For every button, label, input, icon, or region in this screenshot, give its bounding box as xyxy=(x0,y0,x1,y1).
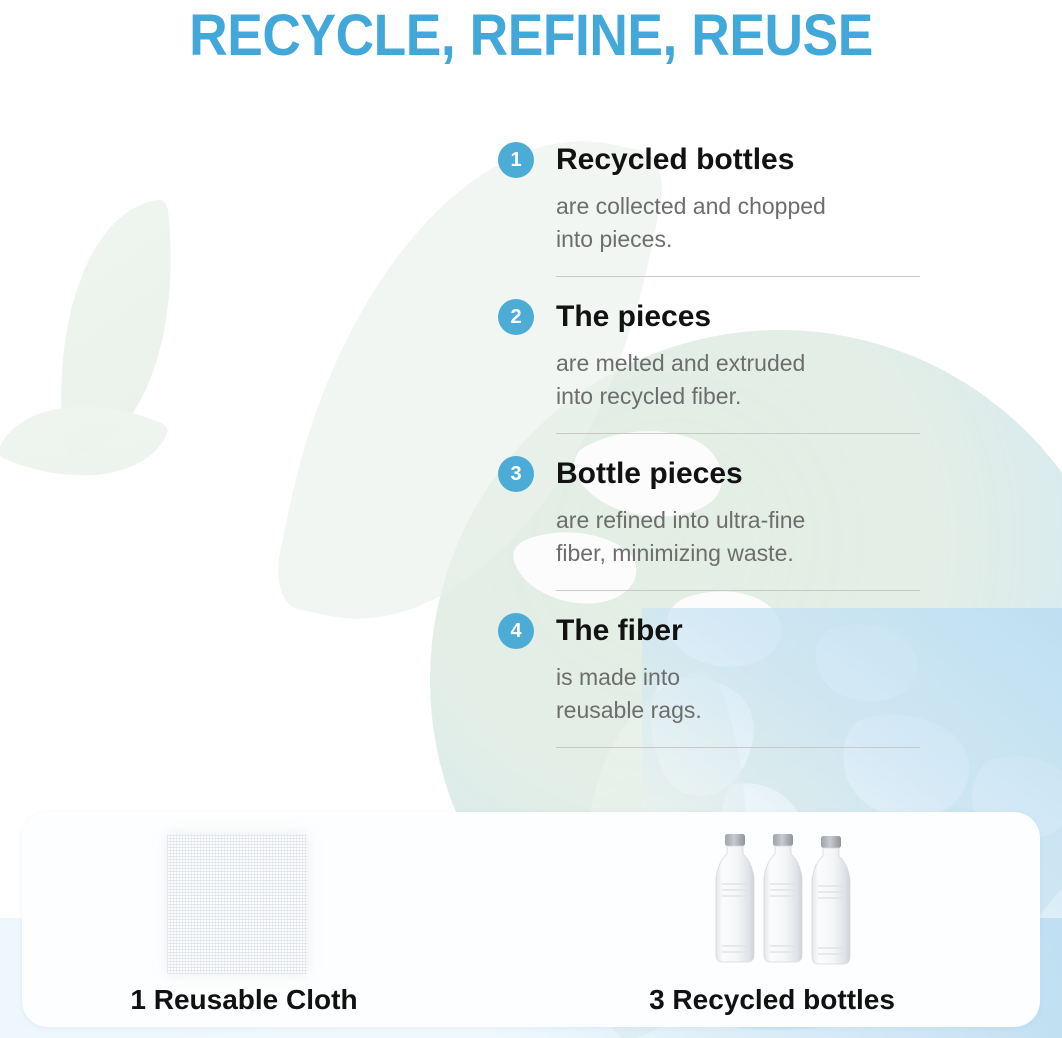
step-body-1: are collected and chopped into pieces. xyxy=(556,190,928,256)
infographic-canvas: RECYCLE, REFINE, REUSE xyxy=(0,0,1062,1038)
recycled-bottles-graphic xyxy=(710,830,870,975)
page-title: RECYCLE, REFINE, REUSE xyxy=(42,2,1019,69)
step-item: 3 Bottle pieces are refined into ultra-f… xyxy=(498,454,928,591)
leaf-graphic-secondary xyxy=(0,370,170,511)
step-badge-3: 3 xyxy=(498,456,534,492)
step-divider-2 xyxy=(556,433,920,434)
band-label-01: 01 xyxy=(284,236,326,279)
band-label-04: 04 xyxy=(284,696,326,739)
step-badge-4: 4 xyxy=(498,613,534,649)
steps-list: 1 Recycled bottles are collected and cho… xyxy=(498,140,928,748)
reusable-cloth-swatch xyxy=(167,834,307,974)
step-title-2: The pieces xyxy=(556,297,711,337)
comparison-card: 1 Reusable Cloth 3 Recycled bottles xyxy=(22,812,1040,1027)
step-divider-3 xyxy=(556,590,920,591)
step-body-4: is made into reusable rags. xyxy=(556,661,928,727)
step-title-3: Bottle pieces xyxy=(556,454,743,494)
comparison-right-label: 3 Recycled bottles xyxy=(622,984,922,1016)
band-label-03: 03 xyxy=(284,556,326,599)
band-label-02: 02 xyxy=(284,393,326,436)
bottle-stage-diagram: 01 02 03 04 xyxy=(120,98,390,798)
step-body-2: are melted and extruded into recycled fi… xyxy=(556,347,928,413)
step-body-3: are refined into ultra-fine fiber, minim… xyxy=(556,504,928,570)
step-badge-1: 1 xyxy=(498,142,534,178)
step-title-4: The fiber xyxy=(556,611,683,651)
comparison-left-label: 1 Reusable Cloth xyxy=(114,984,374,1016)
step-item: 1 Recycled bottles are collected and cho… xyxy=(498,140,928,277)
step-divider-1 xyxy=(556,276,920,277)
step-item: 2 The pieces are melted and extruded int… xyxy=(498,297,928,434)
step-badge-2: 2 xyxy=(498,299,534,335)
step-item: 4 The fiber is made into reusable rags. xyxy=(498,611,928,748)
leaf-graphic-primary xyxy=(40,199,193,456)
step-title-1: Recycled bottles xyxy=(556,140,794,180)
step-divider-4 xyxy=(556,747,920,748)
